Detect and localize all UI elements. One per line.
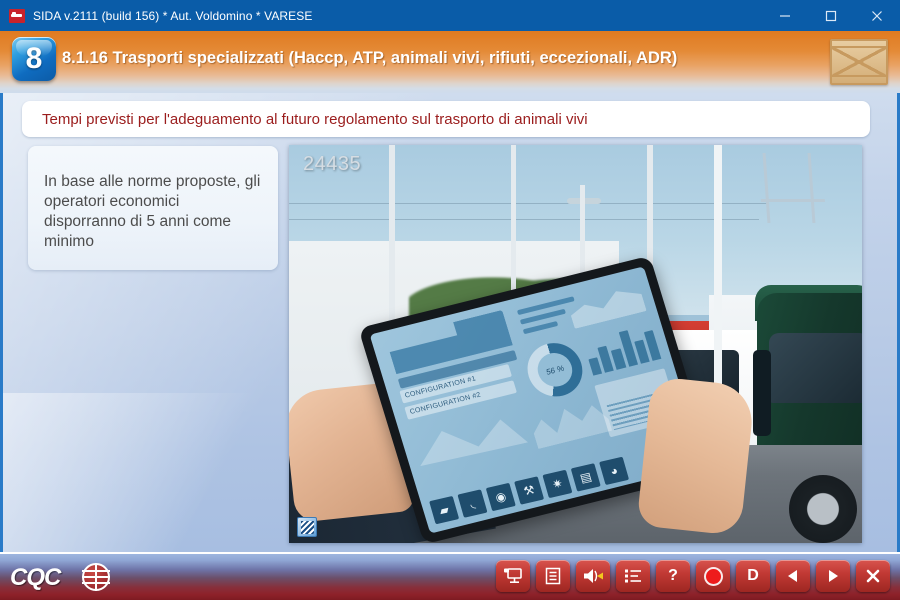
photo-pylon: [763, 153, 816, 223]
wrench-icon: ⚒: [514, 476, 544, 504]
minimize-icon[interactable]: [762, 0, 808, 31]
close-button[interactable]: [856, 560, 890, 592]
document-button[interactable]: [536, 560, 570, 592]
lesson-header: 8 8.1.16 Trasporti specializzati (Haccp,…: [0, 31, 900, 93]
audio-button[interactable]: [576, 560, 610, 592]
photo-wheel-2: [789, 475, 857, 543]
list-button[interactable]: [616, 560, 650, 592]
toolbar-buttons: ? D: [496, 560, 890, 592]
globe-icon[interactable]: [82, 563, 110, 591]
page-title: 8.1.16 Trasporti specializzati (Haccp, A…: [62, 49, 780, 68]
gear-icon: ✷: [542, 470, 572, 498]
subtitle-text: Tempi previsti per l'adeguamento al futu…: [42, 111, 588, 128]
help-button[interactable]: ?: [656, 560, 690, 592]
help-label: ?: [668, 568, 678, 584]
dictionary-button[interactable]: D: [736, 560, 770, 592]
certificate-badge-icon: [297, 517, 317, 537]
previous-button[interactable]: [776, 560, 810, 592]
tablet-bar-chart: [581, 319, 661, 376]
subtitle-banner: Tempi previsti per l'adeguamento al futu…: [22, 101, 870, 137]
wooden-crate-icon: [830, 39, 888, 85]
maximize-icon[interactable]: [808, 0, 854, 31]
lesson-photo: CONFIGURATION #1 CONFIGURATION #2 56 % ▰…: [289, 145, 862, 543]
window-controls: [762, 0, 900, 31]
record-dot-icon: [706, 569, 721, 584]
chapter-number-badge: 8: [12, 37, 56, 81]
record-button[interactable]: [696, 560, 730, 592]
content-note-card: In base alle norme proposte, gli operato…: [28, 146, 278, 270]
speedometer-icon: ◕: [599, 457, 629, 485]
location-pin-icon: ◉: [486, 483, 516, 511]
signal-icon: ▰: [429, 496, 459, 524]
close-icon[interactable]: [854, 0, 900, 31]
tablet-gauge-value: 56 %: [545, 363, 565, 376]
truck-icon: [9, 9, 25, 23]
photo-green-truck-window: [769, 333, 862, 403]
wifi-icon: ◟: [457, 489, 487, 517]
next-button[interactable]: [816, 560, 850, 592]
cqc-logo: CQC: [10, 564, 60, 592]
dictionary-label: D: [747, 568, 759, 584]
content-note-text: In base alle norme proposte, gli operato…: [44, 172, 262, 252]
photo-right-hand: [636, 376, 755, 536]
photo-green-truck-mirror: [753, 350, 771, 436]
photo-overhead-wire-2: [289, 219, 759, 220]
title-bar: SIDA v.2111 (build 156) * Aut. Voldomino…: [0, 0, 900, 31]
window-title: SIDA v.2111 (build 156) * Aut. Voldomino…: [33, 9, 313, 23]
book-icon: ▤: [571, 463, 601, 491]
photo-id-number: 24435: [303, 153, 361, 176]
tablet-gauge: 56 %: [521, 337, 589, 402]
presentation-button[interactable]: [496, 560, 530, 592]
photo-overhead-wire: [289, 203, 769, 204]
stage-left-edge: [0, 93, 3, 552]
